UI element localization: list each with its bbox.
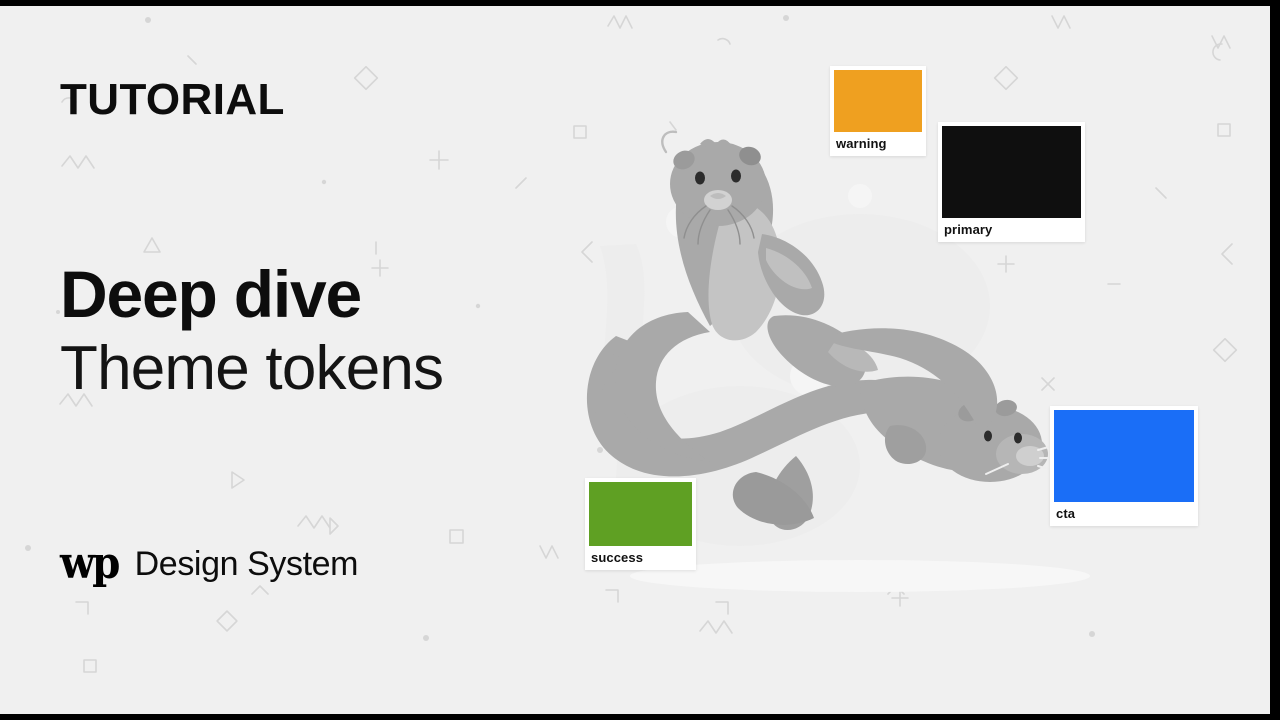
- dash-icon: [188, 56, 196, 64]
- triangle-icon: [330, 518, 338, 534]
- page-subtitle: Theme tokens: [60, 336, 443, 403]
- dot-icon: [25, 545, 31, 551]
- swatch-chip-primary: [942, 126, 1081, 218]
- zigzag-icon: [62, 156, 94, 168]
- brand-name-label: Design System: [135, 545, 358, 584]
- dot-icon: [423, 635, 429, 641]
- slide-stage: TUTORIAL Deep dive Theme tokens wp Desig…: [0, 0, 1280, 720]
- swatch-chip-cta: [1054, 410, 1194, 502]
- square-icon: [1218, 124, 1230, 136]
- swatch-card-warning: warning: [830, 66, 926, 156]
- dot-icon: [783, 15, 789, 21]
- x-mark-icon: [926, 364, 938, 376]
- arc-icon: [1213, 44, 1222, 60]
- dot-icon: [597, 447, 603, 453]
- zigzag-icon: [700, 621, 732, 633]
- square-icon: [450, 530, 463, 543]
- x-mark-icon: [1042, 378, 1054, 390]
- plus-icon: [372, 260, 388, 276]
- plus-icon: [892, 590, 908, 606]
- page-title: Deep dive: [60, 260, 361, 329]
- plus-icon: [430, 151, 448, 169]
- swatch-label-warning: warning: [834, 132, 922, 156]
- slide-canvas: TUTORIAL Deep dive Theme tokens wp Desig…: [0, 6, 1270, 714]
- swatch-card-cta: cta: [1050, 406, 1198, 526]
- diamond-icon: [217, 611, 237, 631]
- zigzag-icon: [540, 546, 558, 558]
- triangle-icon: [144, 238, 160, 252]
- swatch-chip-warning: [834, 70, 922, 132]
- corner-icon: [76, 602, 88, 614]
- dot-icon: [1089, 631, 1095, 637]
- washington-post-wp-logo: wp: [60, 542, 118, 586]
- plus-icon: [998, 256, 1014, 272]
- dash-icon: [516, 178, 526, 188]
- swatch-label-success: success: [589, 546, 692, 570]
- chevron-up-icon: [888, 586, 904, 594]
- corner-icon: [716, 602, 728, 614]
- zigzag-icon: [298, 516, 330, 528]
- arc-icon: [696, 262, 706, 267]
- triangle-icon: [232, 472, 244, 488]
- zigzag-icon: [1052, 16, 1070, 28]
- arc-icon: [718, 39, 730, 44]
- diamond-icon: [995, 67, 1018, 90]
- dash-icon: [670, 122, 676, 130]
- ground-shadow: [630, 560, 1090, 592]
- diamond-icon: [1214, 339, 1237, 362]
- diamond-icon: [355, 67, 378, 90]
- zigzag-icon: [1212, 36, 1230, 48]
- chevron-left-icon: [582, 242, 592, 262]
- dot-icon: [322, 180, 326, 184]
- square-icon: [574, 126, 586, 138]
- eyebrow-label: TUTORIAL: [60, 78, 285, 122]
- brand-lockup: wp Design System: [60, 542, 358, 586]
- swatch-label-cta: cta: [1054, 502, 1194, 526]
- swatch-card-success: success: [585, 478, 696, 570]
- corner-icon: [606, 590, 618, 602]
- square-icon: [84, 660, 96, 672]
- dot-icon: [476, 304, 480, 308]
- dot-icon: [145, 17, 151, 23]
- chevron-up-icon: [252, 586, 268, 594]
- swatch-label-primary: primary: [942, 218, 1081, 242]
- chevron-left-icon: [1222, 244, 1232, 264]
- swatch-card-primary: primary: [938, 122, 1085, 242]
- zigzag-icon: [608, 16, 632, 28]
- dash-icon: [1156, 188, 1166, 198]
- swatch-chip-success: [589, 482, 692, 546]
